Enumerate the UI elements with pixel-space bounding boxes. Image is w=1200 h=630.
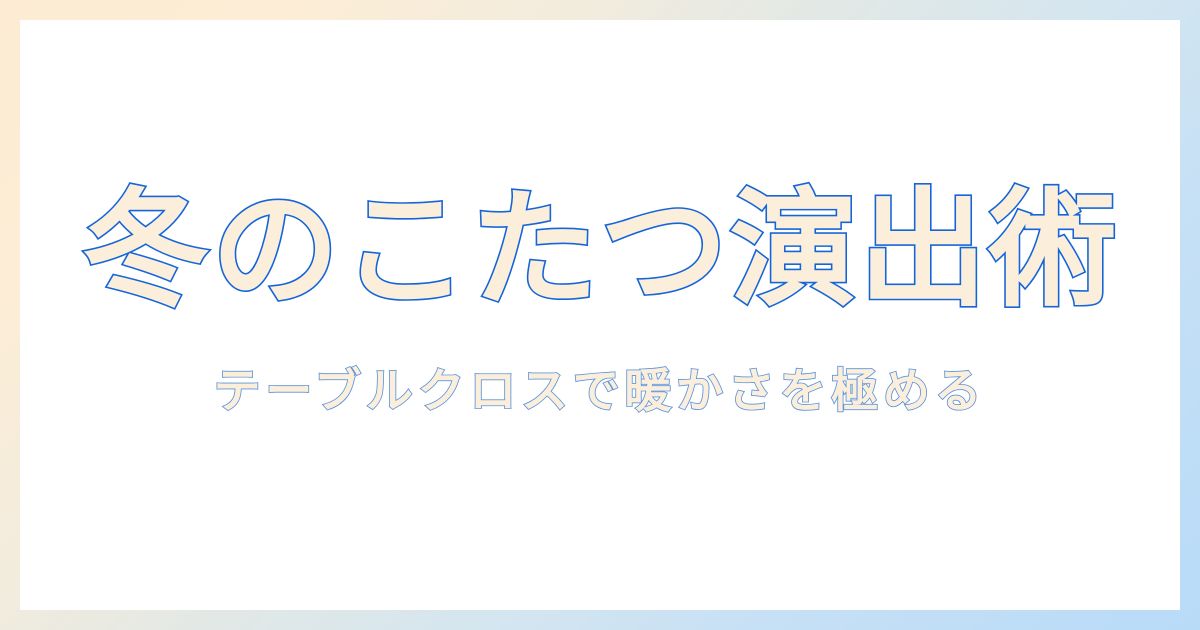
title-container: 冬のこたつ演出術: [20, 184, 1180, 318]
poster-frame: 冬のこたつ演出術 テーブルクロスで暖かさを極める: [0, 0, 1200, 630]
subtitle-container: テーブルクロスで暖かさを極める: [20, 364, 1180, 420]
poster-card: 冬のこたつ演出術 テーブルクロスで暖かさを極める: [20, 20, 1180, 610]
poster-content: 冬のこたつ演出術 テーブルクロスで暖かさを極める: [20, 20, 1180, 610]
poster-subtitle: テーブルクロスで暖かさを極める: [214, 364, 987, 420]
poster-title: 冬のこたつ演出術: [82, 184, 1118, 318]
